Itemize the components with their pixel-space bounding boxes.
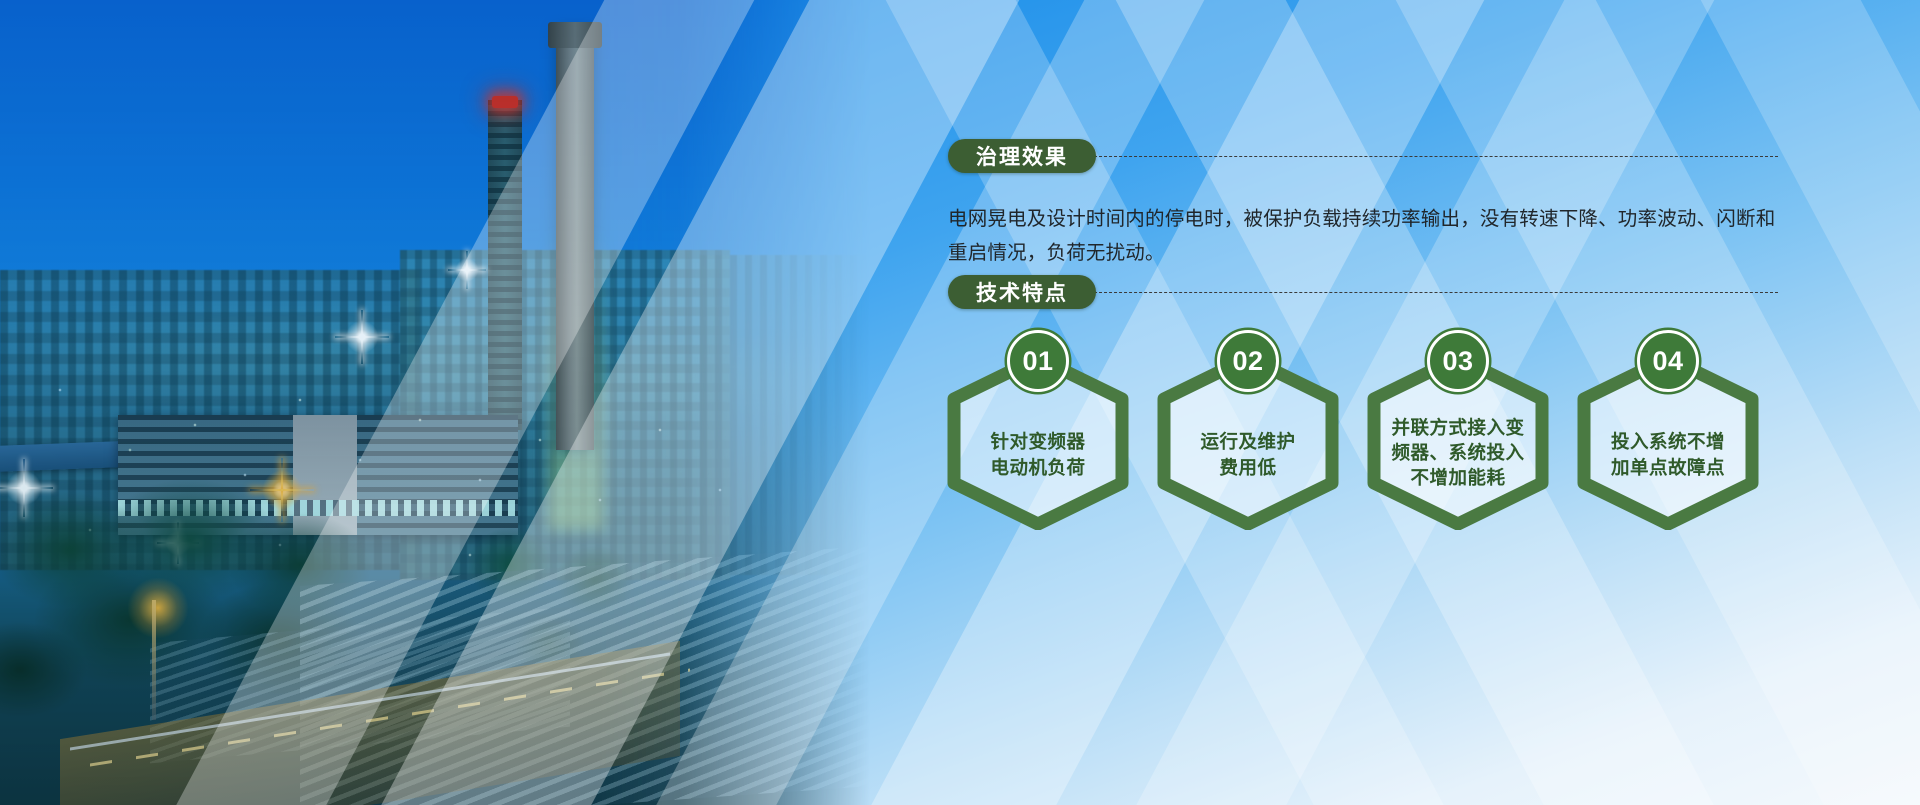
photo-blue-tint-overlay: [0, 0, 880, 805]
feature-number-03: 03: [1427, 330, 1489, 392]
feature-hexagon-02[interactable]: 运行及维护 费用低 02: [1150, 330, 1346, 530]
content-column: 治理效果 电网晃电及设计时间内的停电时，被保护负载持续功率输出，没有转速下降、功…: [948, 0, 1808, 805]
feature-number-02: 02: [1217, 330, 1279, 392]
section-header-technical-features: 技术特点: [948, 275, 1778, 309]
section-pill-governance-effect: 治理效果: [948, 139, 1096, 173]
promo-banner: 治理效果 电网晃电及设计时间内的停电时，被保护负载持续功率输出，没有转速下降、功…: [0, 0, 1920, 805]
feature-hexagon-04[interactable]: 投入系统不增 加单点故障点 04: [1570, 330, 1766, 530]
section-divider-dashed: [1094, 156, 1778, 157]
feature-hexagon-row: 针对变频器 电动机负荷 01 运行及维护 费用低 02 并联方式接入变 频器、系…: [940, 330, 1796, 530]
feature-number-01: 01: [1007, 330, 1069, 392]
feature-hexagon-03[interactable]: 并联方式接入变 频器、系统投入 不增加能耗 03: [1360, 330, 1556, 530]
section-pill-technical-features: 技术特点: [948, 275, 1096, 309]
feature-hexagon-01[interactable]: 针对变频器 电动机负荷 01: [940, 330, 1136, 530]
section-divider-dashed: [1094, 292, 1778, 293]
governance-effect-paragraph: 电网晃电及设计时间内的停电时，被保护负载持续功率输出，没有转速下降、功率波动、闪…: [948, 202, 1778, 270]
section-header-governance-effect: 治理效果: [948, 139, 1778, 173]
industrial-plant-photo: [0, 0, 880, 805]
feature-number-04: 04: [1637, 330, 1699, 392]
